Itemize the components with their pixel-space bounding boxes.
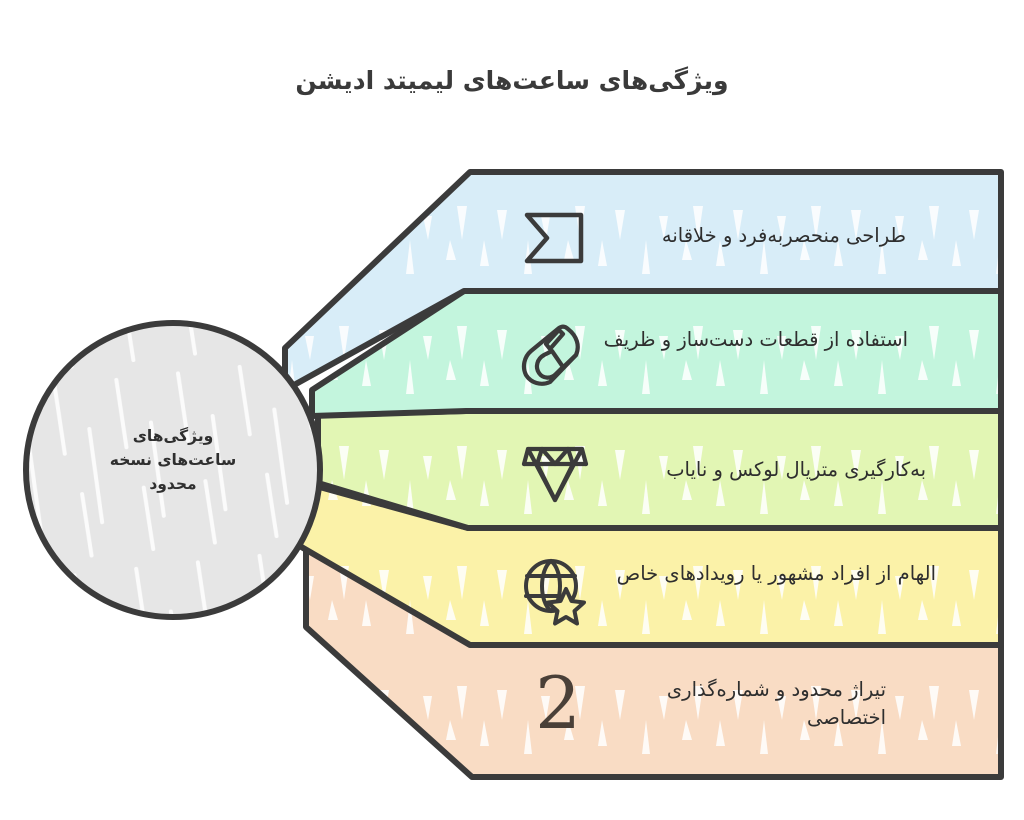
row-4-text: الهام از افراد مشهور یا رویدادهای خاص (596, 560, 936, 588)
tweezers-icon (519, 322, 589, 390)
row-3-text: به‌کارگیری متریال لوکس و نایاب (596, 456, 926, 484)
flag-icon (521, 207, 587, 269)
diamond-icon (520, 441, 590, 507)
row-2-text: استفاده از قطعات دست‌ساز و ظریف (596, 326, 908, 354)
row-5-text: تیراژ محدود و شماره‌گذاری اختصاصی (596, 676, 886, 733)
row-1-text: طراحی منحصربه‌فرد و خلاقانه (596, 222, 906, 250)
hub-circle[interactable] (26, 323, 320, 617)
globe-star-icon (519, 556, 591, 626)
numeral-two-icon: 2 (528, 667, 588, 739)
infographic-canvas: ویژگی‌های ساعت‌های لیمیتد ادیشن (0, 0, 1024, 820)
